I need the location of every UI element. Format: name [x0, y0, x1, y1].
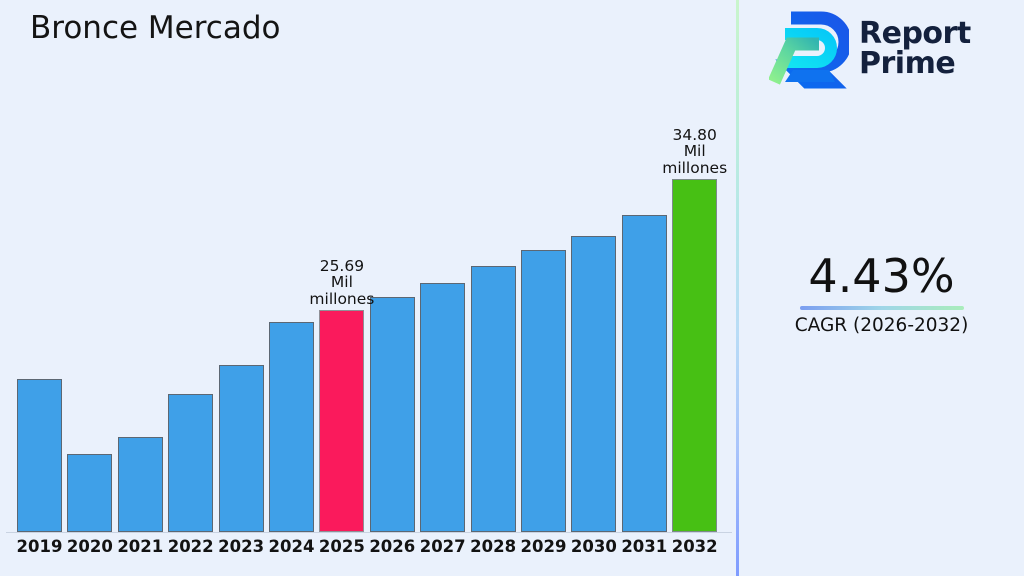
bar-2023 [219, 365, 264, 532]
brand-panel: Report Prime 4.43% CAGR (2026-2032) [739, 0, 1024, 576]
bar-2032 [672, 179, 717, 532]
bar-label-2025-line2: Mil [282, 274, 402, 291]
x-tick-2024: 2024 [263, 537, 320, 556]
cagr-value: 4.43% [739, 250, 1024, 302]
bar-2031 [622, 215, 667, 532]
brand-name-line2: Prime [859, 46, 955, 81]
bar-2028 [471, 266, 516, 532]
bar-2027 [420, 283, 465, 532]
bar-2030 [571, 236, 616, 532]
brand-logo: Report Prime [769, 8, 971, 90]
bar-2025 [319, 310, 364, 532]
bar-2021 [118, 437, 163, 532]
cagr-divider-rule [800, 306, 964, 310]
cagr-block: 4.43% CAGR (2026-2032) [739, 250, 1024, 336]
x-tick-2025: 2025 [313, 537, 370, 556]
x-tick-2019: 2019 [11, 537, 68, 556]
x-tick-2031: 2031 [616, 537, 673, 556]
report-prime-logo-icon [769, 8, 849, 90]
bar-label-2025: 25.69Milmillones [282, 258, 402, 308]
x-tick-2027: 2027 [414, 537, 471, 556]
cagr-caption: CAGR (2026-2032) [739, 315, 1024, 336]
bar-chart-plot: 2019202020212022202320242025202620272028… [0, 0, 737, 576]
bar-2026 [370, 297, 415, 532]
brand-name: Report Prime [859, 19, 971, 79]
x-axis-baseline [6, 532, 732, 533]
x-tick-2030: 2030 [565, 537, 622, 556]
bar-2024 [269, 322, 314, 532]
x-tick-2023: 2023 [213, 537, 270, 556]
bar-label-2025-line3: millones [282, 291, 402, 308]
x-tick-2021: 2021 [112, 537, 169, 556]
bar-2019 [17, 379, 62, 532]
bar-2022 [168, 394, 213, 532]
x-tick-2026: 2026 [364, 537, 421, 556]
x-tick-2022: 2022 [162, 537, 219, 556]
chart-infographic: Bronce Mercado 2019202020212022202320242… [0, 0, 1024, 576]
x-tick-2028: 2028 [465, 537, 522, 556]
bar-2020 [67, 454, 112, 532]
x-tick-2032: 2032 [666, 537, 723, 556]
x-tick-2020: 2020 [61, 537, 118, 556]
bar-label-2025-line1: 25.69 [282, 258, 402, 275]
bar-2029 [521, 250, 566, 532]
x-tick-2029: 2029 [515, 537, 572, 556]
